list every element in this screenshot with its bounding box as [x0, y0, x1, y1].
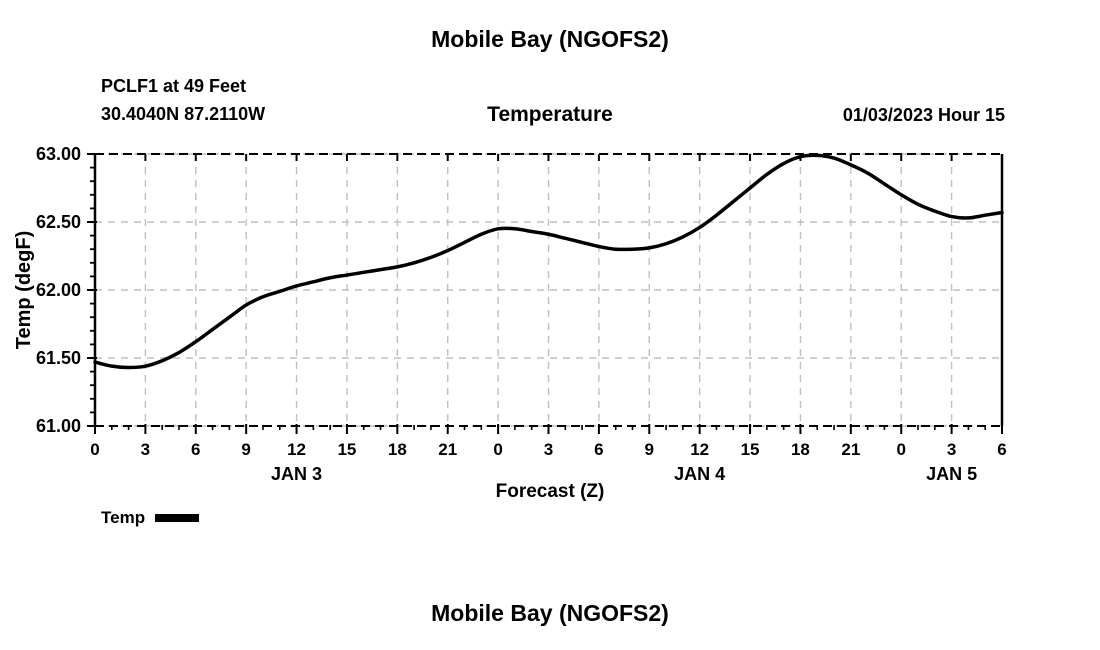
x-tick-label: 15: [337, 440, 356, 459]
y-tick-label: 62.00: [36, 280, 81, 300]
x-tick-label: 3: [544, 440, 553, 459]
y-tick-label: 61.50: [36, 348, 81, 368]
x-tick-label: 6: [191, 440, 200, 459]
x-tick-label: 9: [645, 440, 654, 459]
grid-lines: [95, 154, 1002, 426]
x-tick-label: 21: [438, 440, 457, 459]
x-tick-label: 15: [741, 440, 760, 459]
x-tick-label: 3: [947, 440, 956, 459]
legend-label: Temp: [101, 508, 145, 528]
x-tick-label: 6: [594, 440, 603, 459]
page-title-bottom: Mobile Bay (NGOFS2): [0, 600, 1100, 627]
x-tick-label: 0: [896, 440, 905, 459]
x-tick-label: 6: [997, 440, 1006, 459]
axes: 61.0061.5062.0062.5063.00036912151821036…: [36, 144, 1007, 484]
y-tick-label: 61.00: [36, 416, 81, 436]
x-tick-label: 21: [841, 440, 860, 459]
legend-line-swatch: [155, 514, 199, 522]
x-tick-label: 9: [241, 440, 250, 459]
y-tick-label: 63.00: [36, 144, 81, 164]
x-tick-label: 18: [388, 440, 407, 459]
y-tick-label: 62.50: [36, 212, 81, 232]
x-tick-label: 3: [141, 440, 150, 459]
x-tick-label: 12: [287, 440, 306, 459]
chart-legend: Temp: [101, 508, 199, 528]
temperature-line-chart: 61.0061.5062.0062.5063.00036912151821036…: [0, 0, 1100, 650]
x-tick-label: 0: [90, 440, 99, 459]
x-tick-label: 12: [690, 440, 709, 459]
y-axis-title: Temp (degF): [13, 231, 35, 350]
x-axis-title: Forecast (Z): [0, 481, 1100, 503]
chart-page: Mobile Bay (NGOFS2) PCLF1 at 49 Feet 30.…: [0, 0, 1100, 650]
x-tick-label: 18: [791, 440, 810, 459]
x-tick-label: 0: [493, 440, 502, 459]
